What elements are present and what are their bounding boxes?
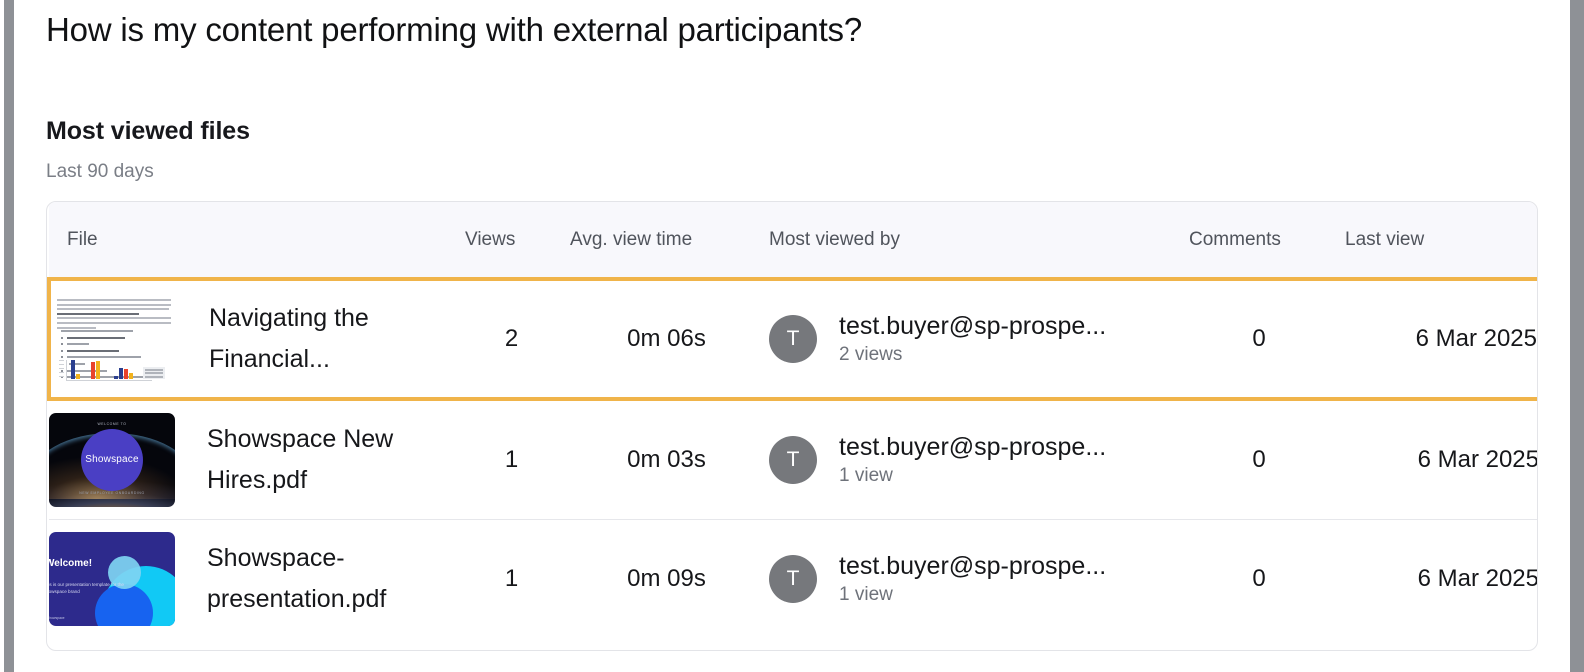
column-header-views[interactable]: Views — [459, 202, 564, 279]
cell-views: 1 — [459, 399, 564, 519]
column-header-file[interactable]: File — [49, 202, 459, 279]
table-row[interactable]: Navigating the Financial... 2 0m 06s T t… — [49, 279, 1538, 399]
cell-most-viewed-by: T test.buyer@sp-prospe... 1 view — [769, 399, 1179, 519]
column-header-most-viewed-by[interactable]: Most viewed by — [769, 202, 1179, 279]
file-name[interactable]: Navigating the Financial... — [209, 298, 424, 380]
document-chart-thumbnail — [51, 292, 177, 386]
column-header-comments[interactable]: Comments — [1179, 202, 1339, 279]
showspace-welcome-thumbnail: Welcome! This is our presentation templa… — [49, 532, 175, 626]
cell-most-viewed-by: T test.buyer@sp-prospe... 2 views — [769, 279, 1179, 399]
right-scrollbar[interactable] — [1570, 0, 1584, 672]
page-title: How is my content performing with extern… — [46, 0, 1538, 50]
cell-views: 2 — [459, 279, 564, 399]
viewer-email: test.buyer@sp-prospe... — [839, 311, 1106, 341]
cell-last-view: 6 Mar 2025 — [1339, 279, 1538, 399]
avatar: T — [769, 315, 817, 363]
table-header-row: File Views Avg. view time Most viewed by… — [49, 202, 1538, 279]
viewer-view-count: 2 views — [839, 343, 1106, 367]
table-row[interactable]: Welcome! This is our presentation templa… — [49, 519, 1538, 639]
cell-avg-view-time: 0m 09s — [564, 519, 769, 639]
cell-last-view: 6 Mar 2025 — [1339, 519, 1538, 639]
table-row[interactable]: WELCOME TO Showspace NEW EMPLOYEE ONBOAR… — [49, 399, 1538, 519]
table-body: Navigating the Financial... 2 0m 06s T t… — [49, 279, 1538, 639]
section-heading: Most viewed files — [46, 50, 1538, 146]
thumbnail-text-lines — [57, 299, 171, 331]
showspace-badge-label: Showspace — [85, 454, 139, 465]
viewer-email: test.buyer@sp-prospe... — [839, 432, 1106, 462]
cell-avg-view-time: 0m 03s — [564, 399, 769, 519]
cell-avg-view-time: 0m 06s — [564, 279, 769, 399]
thumbnail-footer: Showspace — [49, 616, 65, 620]
most-viewed-files-table: File Views Avg. view time Most viewed by… — [47, 202, 1538, 639]
most-viewed-files-card: File Views Avg. view time Most viewed by… — [46, 201, 1538, 651]
page-content: How is my content performing with extern… — [14, 0, 1570, 672]
section-subheading: Last 90 days — [46, 146, 1538, 184]
cell-views: 1 — [459, 519, 564, 639]
thumbnail-chart-legend — [143, 367, 165, 379]
file-name[interactable]: Showspace-presentation.pdf — [207, 538, 422, 620]
screen: How is my content performing with extern… — [0, 0, 1584, 672]
cell-file[interactable]: Navigating the Financial... — [49, 279, 459, 399]
showspace-earth-thumbnail: WELCOME TO Showspace NEW EMPLOYEE ONBOAR… — [49, 413, 175, 507]
left-scroll-gutter[interactable] — [4, 0, 14, 672]
cell-file[interactable]: WELCOME TO Showspace NEW EMPLOYEE ONBOAR… — [49, 399, 459, 519]
table-header: File Views Avg. view time Most viewed by… — [49, 202, 1538, 279]
file-name[interactable]: Showspace New Hires.pdf — [207, 419, 422, 501]
cell-comments: 0 — [1179, 519, 1339, 639]
thumbnail-bottom-caption: NEW EMPLOYEE ONBOARDING — [49, 491, 175, 495]
column-header-avg-view-time[interactable]: Avg. view time — [564, 202, 769, 279]
cell-comments: 0 — [1179, 399, 1339, 519]
avatar: T — [769, 555, 817, 603]
viewer-view-count: 1 view — [839, 464, 1106, 488]
thumbnail-bar-chart — [59, 357, 169, 381]
showspace-badge: Showspace — [81, 429, 143, 491]
thumbnail-top-caption: WELCOME TO — [49, 422, 175, 426]
cell-file[interactable]: Welcome! This is our presentation templa… — [49, 519, 459, 639]
cell-most-viewed-by: T test.buyer@sp-prospe... 1 view — [769, 519, 1179, 639]
column-header-last-view[interactable]: Last view — [1339, 202, 1538, 279]
cell-comments: 0 — [1179, 279, 1339, 399]
viewer-view-count: 1 view — [839, 583, 1106, 607]
avatar: T — [769, 436, 817, 484]
thumbnail-title: Welcome! — [49, 558, 92, 569]
thumbnail-subtitle: This is our presentation template for th… — [49, 581, 129, 595]
cell-last-view: 6 Mar 2025 — [1339, 399, 1538, 519]
viewer-email: test.buyer@sp-prospe... — [839, 551, 1106, 581]
